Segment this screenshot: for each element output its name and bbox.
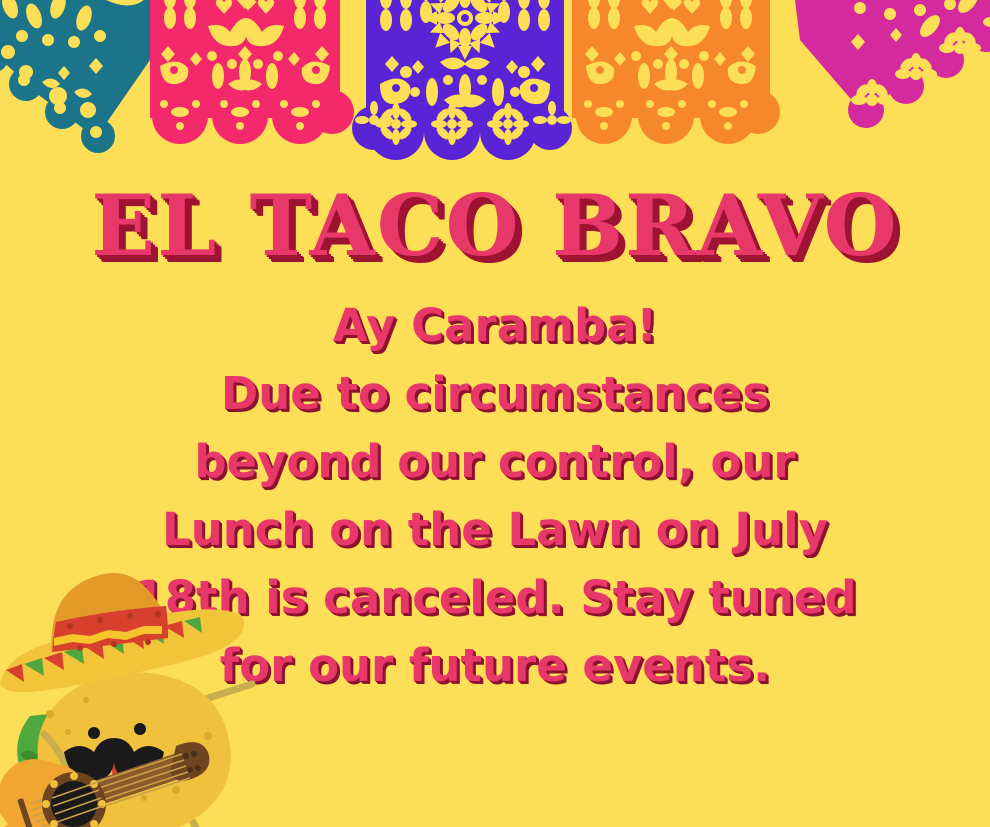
eyes	[88, 723, 146, 739]
guitar-headstock	[170, 742, 209, 781]
guitar-rosette	[42, 772, 106, 827]
tongue	[112, 760, 127, 780]
announcement-line-6: for our future events.	[0, 632, 990, 700]
poster-canvas: EL TACO BRAVO Ay Caramba! Due to circums…	[0, 0, 990, 827]
papel-picado-flag-purple	[352, 0, 572, 160]
guitar-sound-hole	[51, 781, 97, 827]
lettuce-filling	[17, 714, 52, 784]
guitar	[0, 742, 209, 827]
guitar-bridge	[17, 798, 33, 827]
announcement-line-5: 18th is canceled. Stay tuned	[0, 564, 990, 632]
announcement-body: Ay Caramba! Due to circumstances beyond …	[0, 292, 990, 700]
announcement-line-3: beyond our control, our	[0, 428, 990, 496]
papel-picado-flag-orange	[572, 0, 780, 144]
announcement-line-4: Lunch on the Lawn on July	[0, 496, 990, 564]
announcement-line-2: Due to circumstances	[0, 360, 990, 428]
papel-picado-flag-teal	[0, 0, 175, 153]
limbs	[162, 684, 252, 827]
guitar-body	[0, 759, 98, 827]
limbs	[44, 734, 70, 778]
mustache	[64, 738, 164, 780]
guitar-strings	[30, 754, 190, 827]
papel-picado-flag-magenta	[790, 0, 990, 128]
page-title: EL TACO BRAVO	[0, 184, 990, 268]
guitar-neck	[72, 752, 188, 812]
papel-picado-banner	[0, 0, 990, 200]
announcement-line-1: Ay Caramba!	[0, 292, 990, 360]
papel-picado-flag-pink	[150, 0, 354, 144]
